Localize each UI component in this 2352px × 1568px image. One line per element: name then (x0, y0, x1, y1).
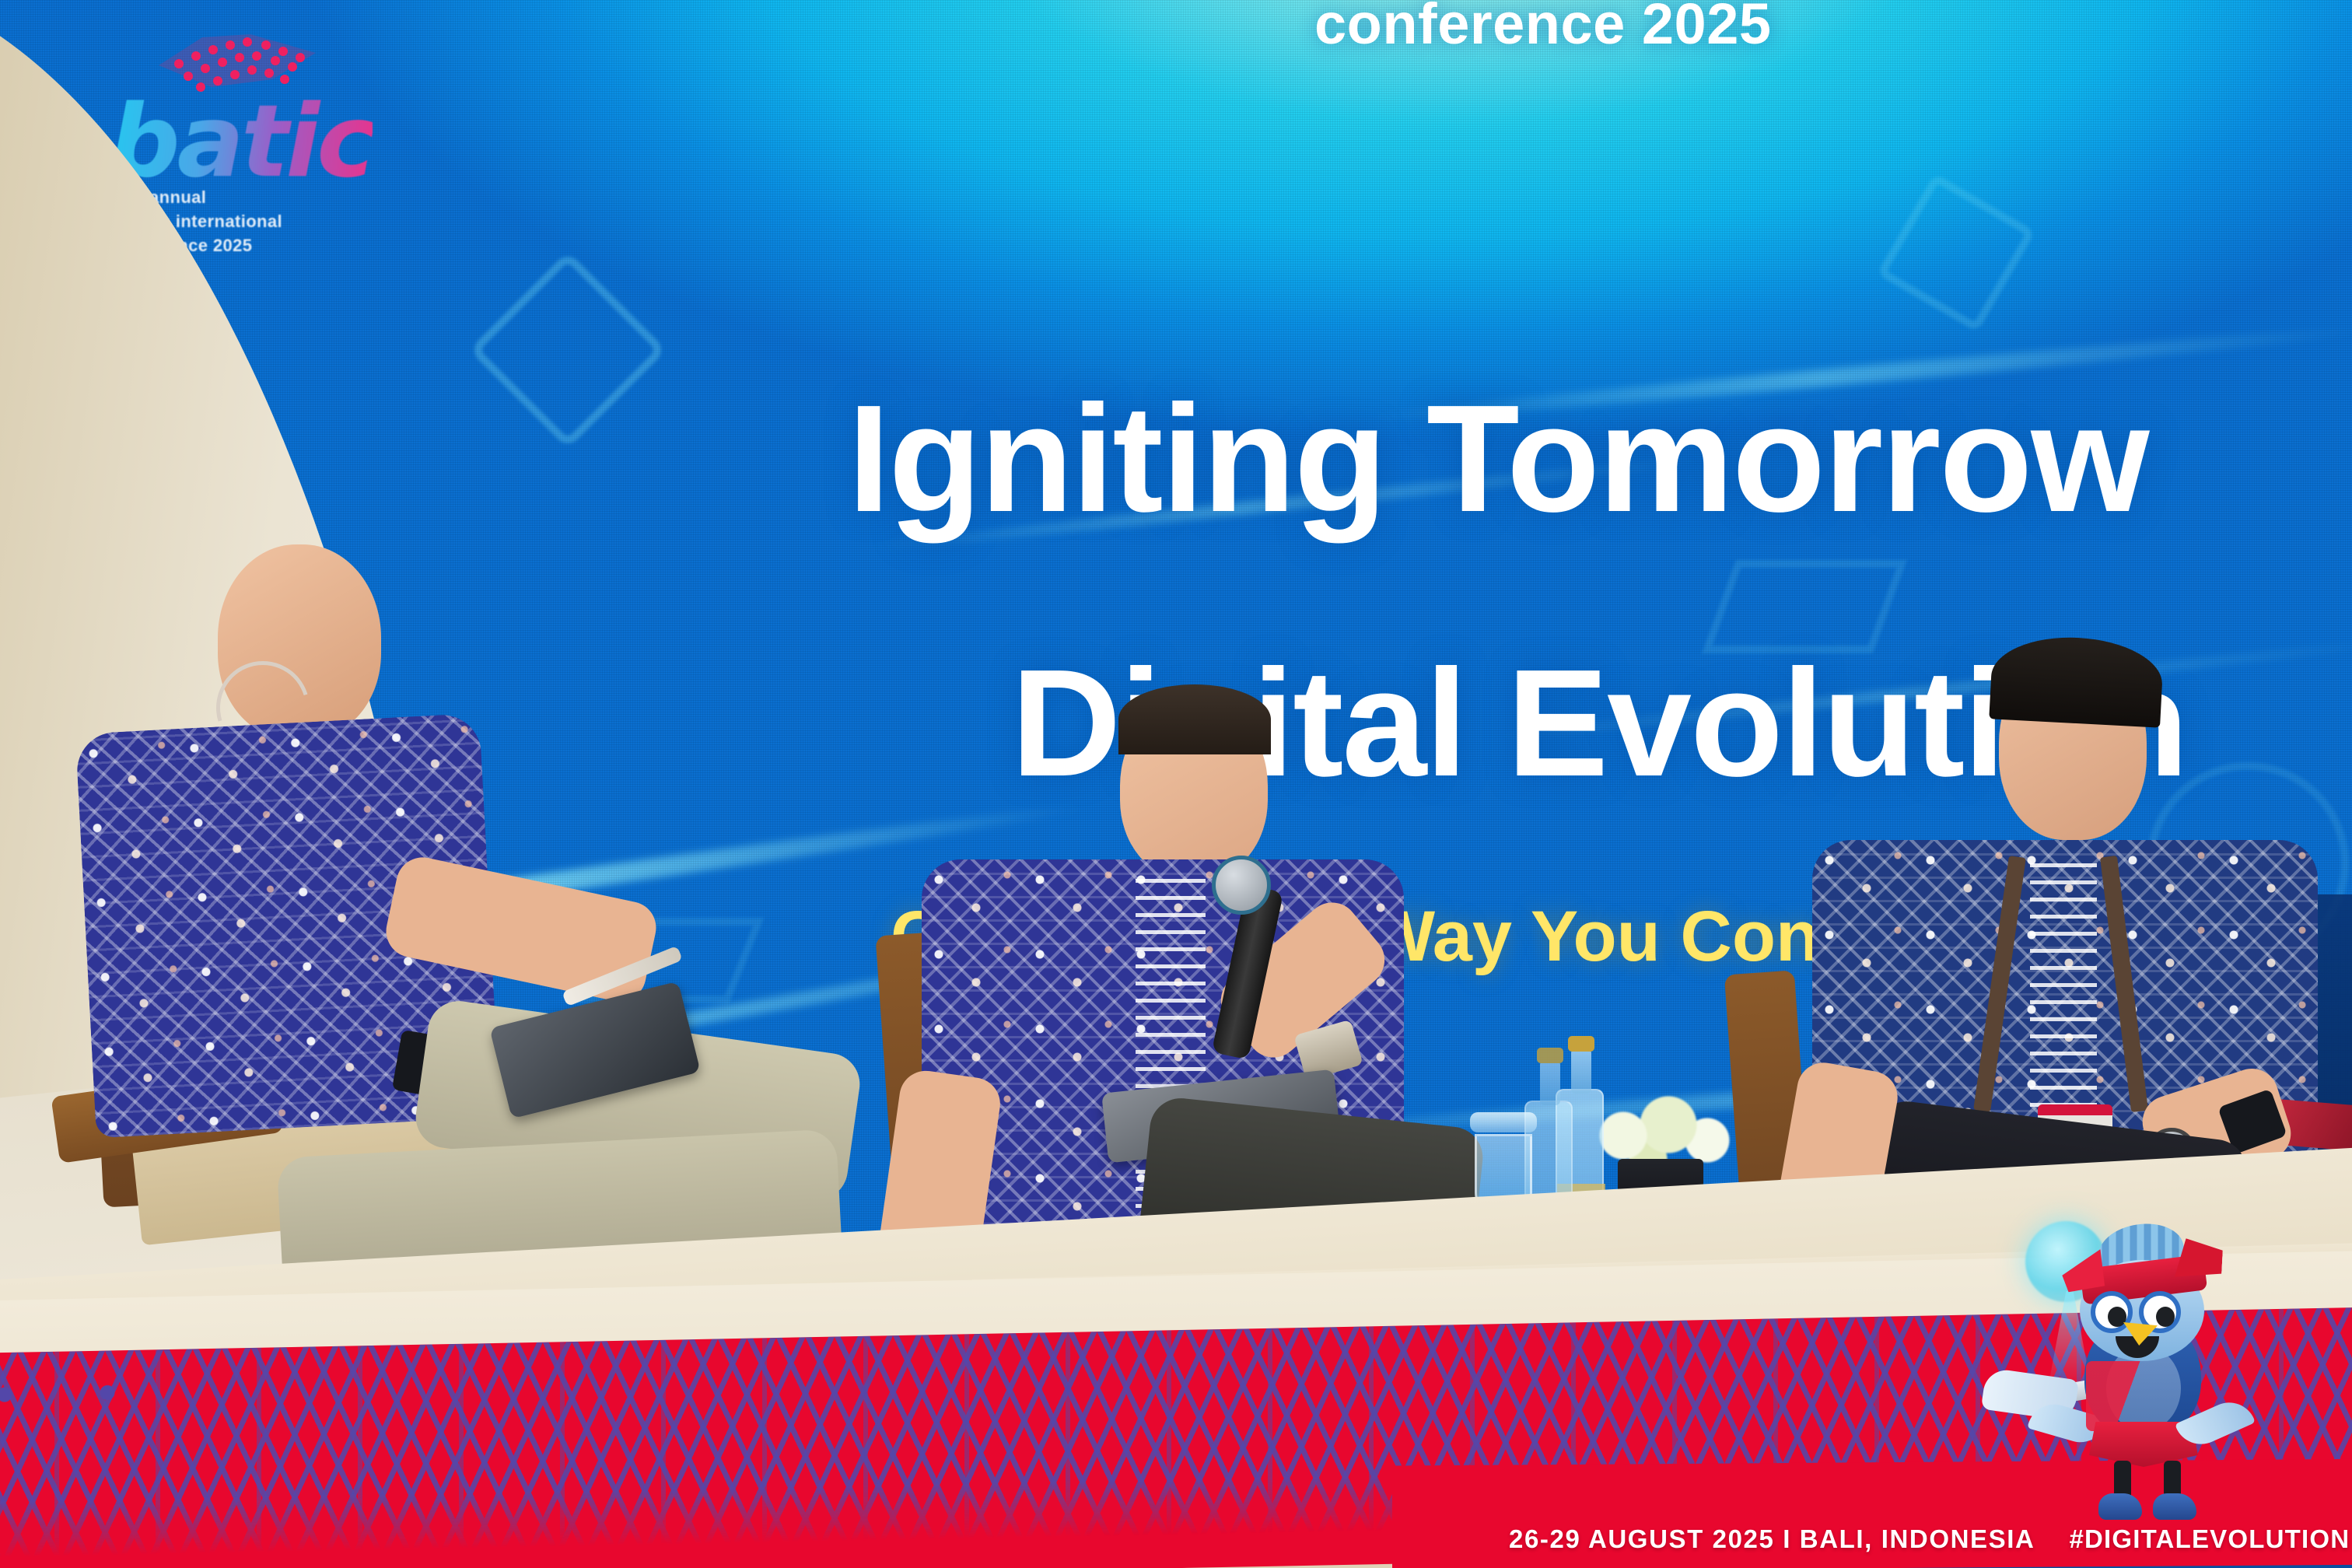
mascot-eye (2091, 1291, 2133, 1333)
geometric-accent-shape (469, 251, 667, 450)
glass-foot (1470, 1112, 1537, 1132)
owl-mascot (2014, 1213, 2263, 1524)
mascot-shoe (2153, 1493, 2196, 1520)
panelist-center-hair (1118, 684, 1271, 754)
batic-wordmark: batic (109, 84, 373, 200)
footer-dates: 26-29 AUGUST 2025 I BALI, INDONESIA (1509, 1524, 2035, 1553)
bottle-cap (1568, 1036, 1594, 1052)
footer-info: 26-29 AUGUST 2025 I BALI, INDONESIA#DIGI… (1509, 1524, 2350, 1554)
bottle-neck (1540, 1060, 1560, 1105)
bottle-neck (1571, 1048, 1591, 1094)
conference-photo: conference 2025 Igniting Tomorrow Digita… (0, 0, 2352, 1568)
mascot-shoe (2098, 1493, 2142, 1520)
microphone-head (1212, 856, 1271, 915)
headline-line-1: Igniting Tomorrow (848, 381, 2352, 537)
footer-hashtag: #DIGITALEVOLUTION (2069, 1524, 2350, 1553)
screen-top-text: conference 2025 (1314, 0, 2170, 57)
bottle-cap (1537, 1048, 1563, 1063)
mascot-pupil (2108, 1307, 2126, 1327)
geometric-accent-shape (1877, 173, 2036, 333)
mascot-pupil (2156, 1307, 2175, 1327)
